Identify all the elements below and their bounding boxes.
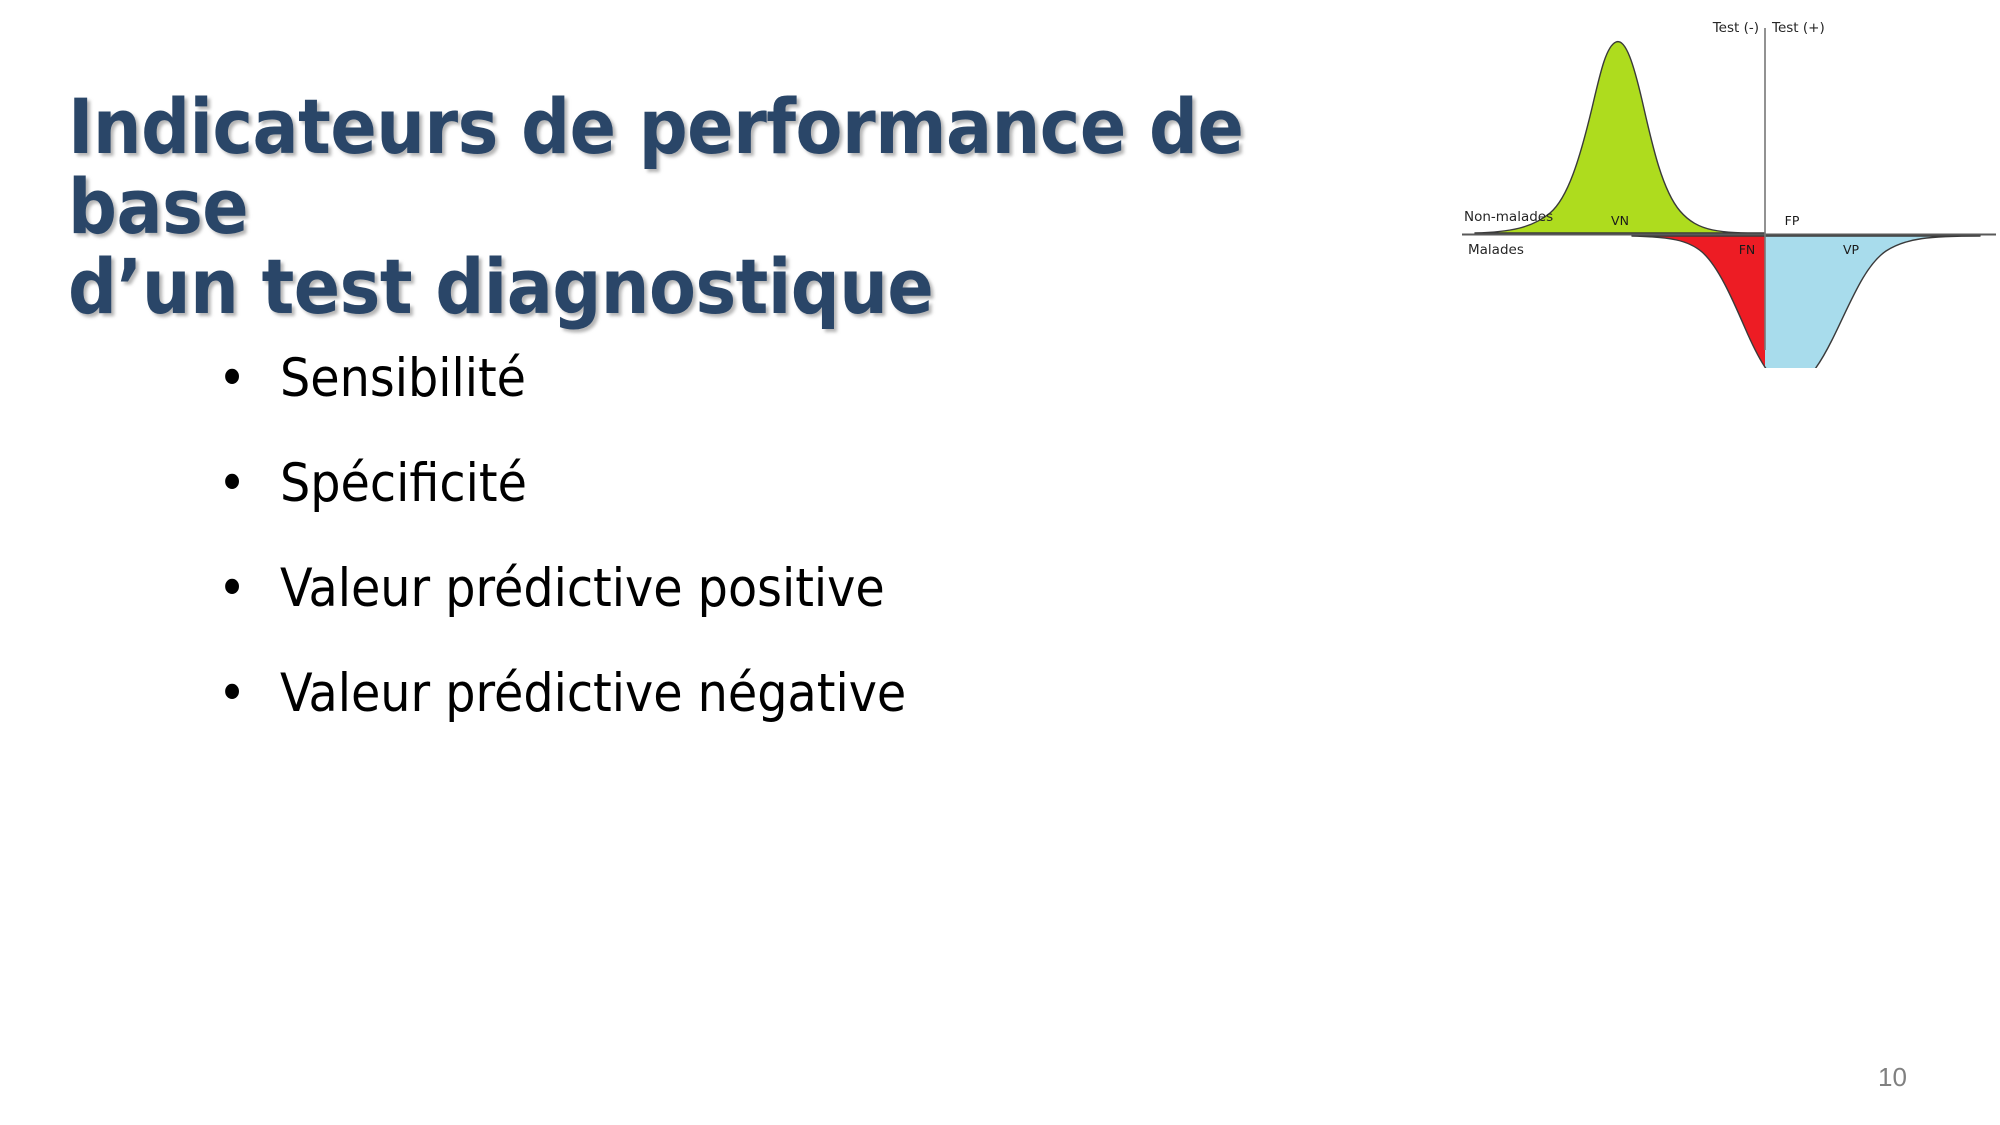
list-item-label: Valeur prédictive positive <box>280 558 885 619</box>
test-performance-diagram: Test (-) Test (+) Non-malades Malades VN… <box>1440 8 2000 368</box>
bullet-marker-icon: • <box>218 352 246 405</box>
list-item: • Valeur prédictive négative <box>218 667 1268 720</box>
region-vp <box>1632 236 1980 387</box>
page-number: 10 <box>1878 1062 1907 1093</box>
axis-label-malades: Malades <box>1468 242 1524 258</box>
bullet-marker-icon: • <box>218 457 246 510</box>
distribution-chart: Test (-) Test (+) Non-malades Malades VN… <box>1440 8 2000 368</box>
region-vn <box>1475 42 1765 233</box>
slide-canvas: Indicateurs de performance de base d’un … <box>0 0 2000 1125</box>
page-title: Indicateurs de performance de base d’un … <box>68 87 1358 326</box>
list-item: • Spécificité <box>218 457 1268 510</box>
bullet-list: • Sensibilité • Spécificité • Valeur pré… <box>218 352 1268 772</box>
threshold-label-negative: Test (-) <box>1712 20 1759 36</box>
threshold-label-positive: Test (+) <box>1771 20 1825 36</box>
region-label-vp: VP <box>1843 242 1860 257</box>
region-label-vn: VN <box>1611 213 1629 228</box>
region-label-fp: FP <box>1785 213 1800 228</box>
axis-label-non-malades: Non-malades <box>1464 209 1553 225</box>
list-item: • Valeur prédictive positive <box>218 562 1268 615</box>
bullet-marker-icon: • <box>218 667 246 720</box>
bullet-marker-icon: • <box>218 562 246 615</box>
list-item: • Sensibilité <box>218 352 1268 405</box>
region-label-fn: FN <box>1739 242 1756 257</box>
list-item-label: Sensibilité <box>280 348 526 409</box>
list-item-label: Valeur prédictive négative <box>280 663 906 724</box>
list-item-label: Spécificité <box>280 453 527 514</box>
